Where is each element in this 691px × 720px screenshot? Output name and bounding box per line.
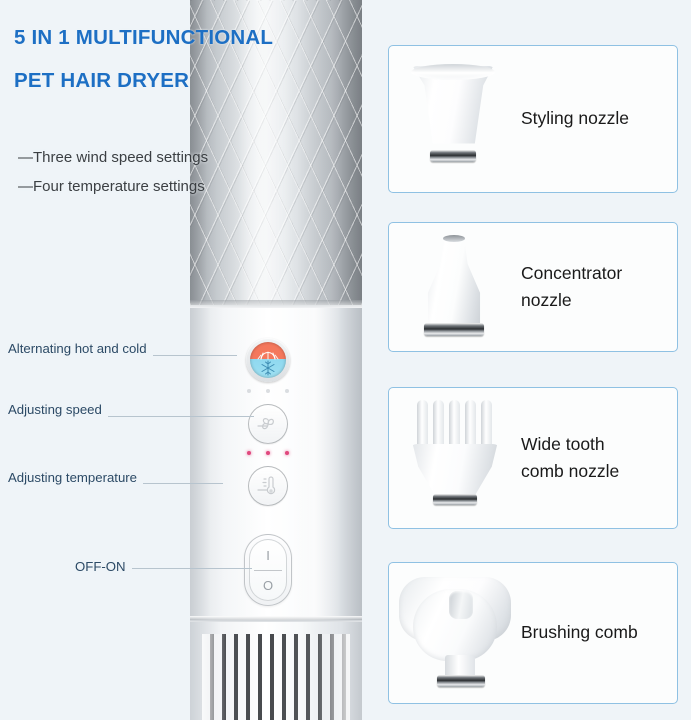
attachment-label: Wide tooth comb nozzle [521,431,627,485]
callout-off-on: OFF-ON [75,559,252,574]
led-indicator [266,451,270,455]
attachment-label: Brushing comb [521,619,646,646]
attachment-label-line-2: comb nozzle [521,458,619,485]
attachment-label-line-2: nozzle [521,287,622,314]
attachment-card-concentrator-nozzle[interactable]: Concentrator nozzle [388,222,678,352]
led-indicator [285,389,289,393]
headline-block: 5 IN 1 MULTIFUNCTIONAL PET HAIR DRYER [14,28,354,91]
attachment-card-wide-tooth-comb-nozzle[interactable]: Wide tooth comb nozzle [388,387,678,529]
temperature-led-indicators [247,450,289,456]
feature-bullet-list: —Three wind speed settings —Four tempera… [18,150,278,194]
fan-icon [256,412,280,436]
comb-prong [449,400,460,450]
attachment-label-line-1: Concentrator [521,260,622,287]
feature-bullet: —Three wind speed settings [18,150,278,165]
power-on-symbol: I [266,549,270,562]
callout-label: Adjusting temperature [8,470,137,485]
led-indicator [285,451,289,455]
nozzle-body [409,444,501,498]
nozzle-body [423,237,485,327]
styling-nozzle-image [389,46,521,192]
feature-bullet: —Four temperature settings [18,179,278,194]
speed-led-indicators [247,388,289,394]
attachment-label: Styling nozzle [521,105,637,132]
led-indicator [266,389,270,393]
page-title-line-2: PET HAIR DRYER [14,71,354,92]
chrome-collar [433,494,477,505]
power-switch-inner: I O [249,539,287,601]
nozzle-tip [443,235,465,242]
comb-prong [465,400,476,450]
callout-adjusting-temperature: Adjusting temperature [8,470,223,485]
thermometer-icon [256,474,280,498]
leader-line [153,355,237,356]
brush-knob [449,591,473,619]
speed-adjust-button[interactable] [248,404,288,444]
wide-tooth-comb-image [389,388,521,528]
concentrator-nozzle-image [389,223,521,351]
callout-adjusting-speed: Adjusting speed [8,402,254,417]
brushing-comb-image [389,563,521,703]
chrome-collar [424,323,484,336]
comb-prong [481,400,492,450]
callout-alternating-hot-cold: Alternating hot and cold [8,341,237,356]
comb-prong [417,400,428,450]
temperature-adjust-button[interactable] [248,466,288,506]
page-title-line-1: 5 IN 1 MULTIFUNCTIONAL [14,28,354,49]
leader-line [132,568,252,569]
pet-hair-dryer-illustration: I O [190,0,362,720]
attachment-card-styling-nozzle[interactable]: Styling nozzle [388,45,678,193]
comb-prong [433,400,444,450]
snowflake-icon [260,360,276,376]
comb-prongs [417,400,493,450]
hot-cold-face [250,342,286,378]
led-indicator [247,451,251,455]
sun-icon [257,346,279,360]
attachment-card-brushing-comb[interactable]: Brushing comb [388,562,678,704]
attachment-label: Concentrator nozzle [521,260,630,314]
chrome-collar [437,675,485,687]
callout-label: Alternating hot and cold [8,341,147,356]
power-off-symbol: O [263,579,273,592]
vent-slots [202,634,350,720]
nozzle-lip [411,64,495,80]
callout-label: Adjusting speed [8,402,102,417]
callout-label: OFF-ON [75,559,126,574]
attachment-card-list: Styling nozzle Concentrator nozzle Wide [388,0,678,720]
leader-line [108,416,254,417]
led-indicator [247,389,251,393]
hot-cold-toggle-button[interactable] [246,338,290,382]
dryer-air-intake [190,622,362,720]
leader-line [143,483,223,484]
chrome-collar [430,150,476,162]
attachment-label-line-1: Wide tooth [521,431,619,458]
